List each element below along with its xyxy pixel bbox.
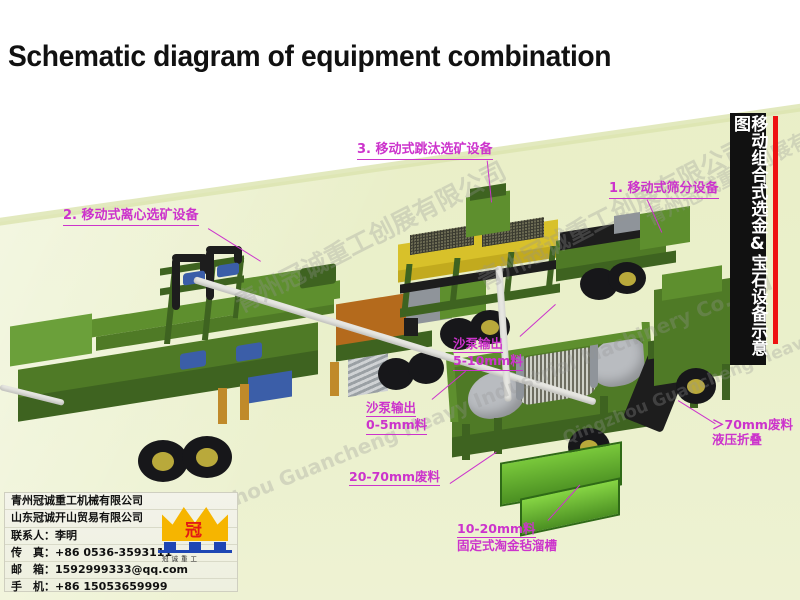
label-equipment-2: 2. 移动式离心选矿设备 (63, 208, 199, 226)
label-waste-70: ＞70mm废料 液压折叠 (712, 417, 793, 448)
fax-label: 传 真： (11, 545, 55, 561)
vertical-banner-text: 移动组合式选金&宝石设备示意图 (731, 115, 766, 363)
label-equipment-3-text: 3. 移动式跳汰选矿设备 (357, 142, 493, 160)
label-pump-0-5-line2: 0-5mm料 (366, 417, 427, 434)
email-label: 邮 箱： (11, 562, 55, 578)
label-equipment-1-text: 1. 移动式筛分设备 (609, 181, 719, 199)
fax-value: +86 0536-3593111 (55, 546, 172, 559)
label-equipment-3: 3. 移动式跳汰选矿设备 (357, 142, 493, 160)
label-feed-10-20-line1: 10-20mm料 (457, 521, 536, 538)
label-pump-5-10: 沙泵输出 5-10mm料 (453, 336, 523, 371)
vertical-banner: 移动组合式选金&宝石设备示意图 (730, 113, 766, 365)
label-waste-70-line2: 液压折叠 (712, 432, 762, 447)
label-equipment-1: 1. 移动式筛分设备 (609, 181, 719, 199)
logo-character: 冠 (185, 516, 202, 541)
label-feed-10-20-line2: 固定式淘金毡溜槽 (457, 538, 557, 553)
logo-subtext: 冠诚重工 (162, 553, 228, 563)
label-waste-20-70: 20-70mm废料 (349, 469, 440, 486)
contact-label: 联系人： (11, 528, 55, 544)
logo-base-blocks (160, 542, 230, 550)
contact-value: 李明 (55, 529, 77, 542)
label-pump-0-5-line1: 沙泵输出 (366, 400, 416, 417)
mobile-value: +86 15053659999 (55, 580, 168, 593)
red-accent-bar (773, 116, 778, 344)
label-waste-70-line1: ＞70mm废料 (712, 417, 793, 432)
page-title: Schematic diagram of equipment combinati… (8, 40, 611, 74)
diagram-canvas: Schematic diagram of equipment combinati… (0, 0, 800, 600)
label-equipment-2-text: 2. 移动式离心选矿设备 (63, 208, 199, 226)
mobile-label: 手 机： (11, 579, 55, 595)
label-pump-5-10-line2: 5-10mm料 (453, 353, 523, 370)
label-waste-20-70-text: 20-70mm废料 (349, 469, 440, 486)
label-feed-10-20: 10-20mm料 固定式淘金毡溜槽 (457, 521, 557, 554)
mobile-row: 手 机：+86 15053659999 (5, 579, 237, 595)
label-pump-0-5: 沙泵输出 0-5mm料 (366, 400, 427, 435)
label-pump-5-10-line1: 沙泵输出 (453, 336, 503, 353)
company-logo: 冠 冠诚重工 (158, 505, 232, 567)
